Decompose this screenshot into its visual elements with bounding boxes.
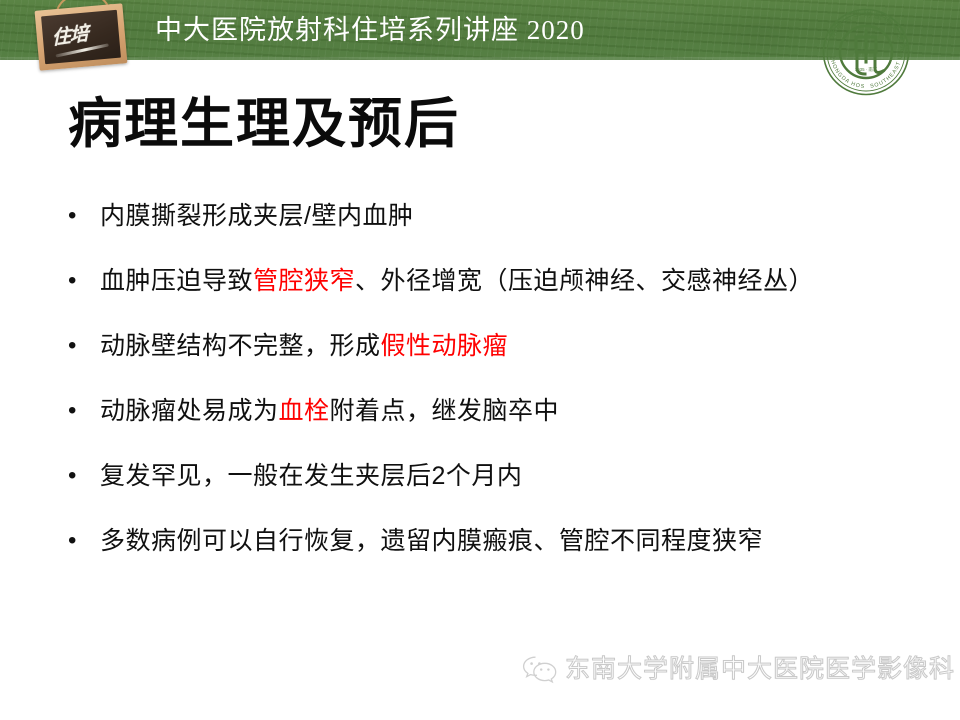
footer-watermark-text: 东南大学附属中大医院医学影像科 bbox=[565, 654, 955, 684]
bullet-marker-icon: • bbox=[68, 460, 100, 492]
bullet-marker-icon: • bbox=[68, 395, 100, 427]
wechat-icon bbox=[521, 654, 559, 684]
bullet-marker-icon: • bbox=[68, 265, 100, 297]
plain-text: 动脉壁结构不完整，形成 bbox=[100, 332, 381, 360]
list-item: • 多数病例可以自行恢复，遗留内膜瘢痕、管腔不同程度狭窄 bbox=[68, 525, 938, 590]
bullet-marker-icon: • bbox=[68, 200, 100, 232]
chalkboard-icon: 住培 bbox=[24, 0, 136, 76]
bullet-text: 多数病例可以自行恢复，遗留内膜瘢痕、管腔不同程度狭窄 bbox=[100, 525, 938, 557]
highlighted-term: 管腔狭窄 bbox=[253, 267, 355, 295]
plain-text: 多数病例可以自行恢复，遗留内膜瘢痕、管腔不同程度狭窄 bbox=[100, 527, 763, 555]
highlighted-term: 血栓 bbox=[279, 397, 330, 425]
highlighted-term: 假性动脉瘤 bbox=[381, 332, 509, 360]
chalkboard-handwriting: 住培 bbox=[51, 18, 88, 50]
bullet-text: 动脉壁结构不完整，形成假性动脉瘤 bbox=[100, 330, 938, 362]
plain-text: 内膜撕裂形成夹层/壁内血肿 bbox=[100, 202, 413, 230]
footer-watermark: 东南大学附属中大医院医学影像科 bbox=[521, 652, 955, 686]
list-item: • 血肿压迫导致管腔狭窄、外径增宽（压迫颅神经、交感神经丛） bbox=[68, 265, 938, 330]
plain-text: 血肿压迫导致 bbox=[100, 267, 253, 295]
zhongda-hospital-seal-logo: 东南大学附属中大医院 ZHONGDA HOSPITAL SOUTHEAST UN… bbox=[820, 6, 912, 98]
chalkboard-frame: 住培 bbox=[35, 3, 128, 70]
bullet-marker-icon: • bbox=[68, 330, 100, 362]
list-item: • 内膜撕裂形成夹层/壁内血肿 bbox=[68, 200, 938, 265]
bullet-text: 复发罕见，一般在发生夹层后2个月内 bbox=[100, 460, 938, 492]
list-item: • 动脉壁结构不完整，形成假性动脉瘤 bbox=[68, 330, 938, 395]
bullet-text: 血肿压迫导致管腔狭窄、外径增宽（压迫颅神经、交感神经丛） bbox=[100, 265, 938, 297]
plain-text: 、外径增宽（压迫颅神经、交感神经丛） bbox=[355, 267, 814, 295]
svg-text:1935 · 南京: 1935 · 南京 bbox=[855, 66, 878, 73]
header-title: 中大医院放射科住培系列讲座 2020 bbox=[155, 15, 585, 45]
chalkboard-face: 住培 bbox=[41, 10, 121, 64]
bullet-text: 内膜撕裂形成夹层/壁内血肿 bbox=[100, 200, 938, 232]
list-item: • 复发罕见，一般在发生夹层后2个月内 bbox=[68, 460, 938, 525]
svg-text:东南大学附属中大医院: 东南大学附属中大医院 bbox=[826, 9, 909, 54]
bullet-marker-icon: • bbox=[68, 525, 100, 557]
bullet-text: 动脉瘤处易成为血栓附着点，继发脑卒中 bbox=[100, 395, 938, 427]
plain-text: 动脉瘤处易成为 bbox=[100, 397, 279, 425]
page-title: 病理生理及预后 bbox=[68, 93, 460, 155]
list-item: • 动脉瘤处易成为血栓附着点，继发脑卒中 bbox=[68, 395, 938, 460]
bullet-list: • 内膜撕裂形成夹层/壁内血肿 • 血肿压迫导致管腔狭窄、外径增宽（压迫颅神经、… bbox=[68, 200, 938, 590]
plain-text: 复发罕见，一般在发生夹层后2个月内 bbox=[100, 462, 522, 490]
plain-text: 附着点，继发脑卒中 bbox=[330, 397, 560, 425]
